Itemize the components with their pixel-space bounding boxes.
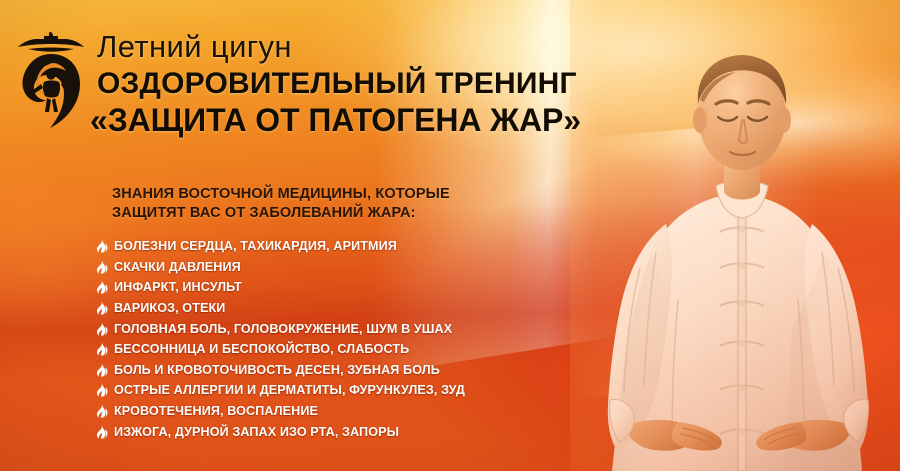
list-item: БЕССОННИЦА И БЕСПОКОЙСТВО, СЛАБОСТЬ [93,339,563,360]
headline-block: Летний цигун ОЗДОРОВИТЕЛЬНЫЙ ТРЕНИНГ «ЗА… [97,30,697,139]
list-item: ГОЛОВНАЯ БОЛЬ, ГОЛОВОКРУЖЕНИЕ, ШУМ В УША… [93,318,563,339]
list-item-label: ОСТРЫЕ АЛЛЕРГИИ И ДЕРМАТИТЫ, ФУРУНКУЛЕЗ,… [114,383,465,397]
flame-icon [93,321,110,337]
subtitle-block: ЗНАНИЯ ВОСТОЧНОЙ МЕДИЦИНЫ, КОТОРЫЕ ЗАЩИТ… [112,185,542,223]
brand-logo[interactable] [14,28,88,132]
list-item-label: СКАЧКИ ДАВЛЕНИЯ [114,260,241,274]
list-item: СКАЧКИ ДАВЛЕНИЯ [93,257,563,278]
flame-icon [93,382,110,398]
symptom-list: БОЛЕЗНИ СЕРДЦА, ТАХИКАРДИЯ, АРИТМИЯ СКАЧ… [93,236,563,442]
flame-icon [93,362,110,378]
list-item: БОЛЕЗНИ СЕРДЦА, ТАХИКАРДИЯ, АРИТМИЯ [93,236,563,257]
list-item-label: БОЛЕЗНИ СЕРДЦА, ТАХИКАРДИЯ, АРИТМИЯ [114,239,397,253]
list-item: ИЗЖОГА, ДУРНОЙ ЗАПАХ ИЗО РТА, ЗАПОРЫ [93,421,563,442]
flame-icon [93,424,110,440]
list-item: БОЛЬ И КРОВОТОЧИВОСТЬ ДЕСЕН, ЗУБНАЯ БОЛЬ [93,360,563,381]
flame-icon [93,238,110,254]
list-item: ИНФАРКТ, ИНСУЛЬТ [93,277,563,298]
headline-line-1: Летний цигун [97,30,697,65]
list-item-label: БОЛЬ И КРОВОТОЧИВОСТЬ ДЕСЕН, ЗУБНАЯ БОЛЬ [114,363,440,377]
list-item: ОСТРЫЕ АЛЛЕРГИИ И ДЕРМАТИТЫ, ФУРУНКУЛЕЗ,… [93,380,563,401]
list-item: ВАРИКОЗ, ОТЕКИ [93,298,563,319]
subtitle-line-2: ЗАЩИТЯТ ВАС ОТ ЗАБОЛЕВАНИЙ ЖАРА: [112,204,542,223]
list-item-label: БЕССОННИЦА И БЕСПОКОЙСТВО, СЛАБОСТЬ [114,342,409,356]
flame-icon [93,300,110,316]
qigong-pagoda-figure-logo-icon [14,28,88,132]
promo-banner: Летний цигун ОЗДОРОВИТЕЛЬНЫЙ ТРЕНИНГ «ЗА… [0,0,900,471]
subtitle-line-1: ЗНАНИЯ ВОСТОЧНОЙ МЕДИЦИНЫ, КОТОРЫЕ [112,185,542,204]
headline-line-2: ОЗДОРОВИТЕЛЬНЫЙ ТРЕНИНГ [97,66,697,101]
flame-icon [93,279,110,295]
headline-line-3: «ЗАЩИТА ОТ ПАТОГЕНА ЖАР» [90,102,697,139]
flame-icon [93,341,110,357]
flame-icon [93,403,110,419]
list-item-label: ИНФАРКТ, ИНСУЛЬТ [114,280,242,294]
flame-icon [93,259,110,275]
list-item-label: ГОЛОВНАЯ БОЛЬ, ГОЛОВОКРУЖЕНИЕ, ШУМ В УША… [114,322,452,336]
list-item-label: КРОВОТЕЧЕНИЯ, ВОСПАЛЕНИЕ [114,404,318,418]
list-item-label: ВАРИКОЗ, ОТЕКИ [114,301,225,315]
list-item: КРОВОТЕЧЕНИЯ, ВОСПАЛЕНИЕ [93,401,563,422]
list-item-label: ИЗЖОГА, ДУРНОЙ ЗАПАХ ИЗО РТА, ЗАПОРЫ [114,425,399,439]
